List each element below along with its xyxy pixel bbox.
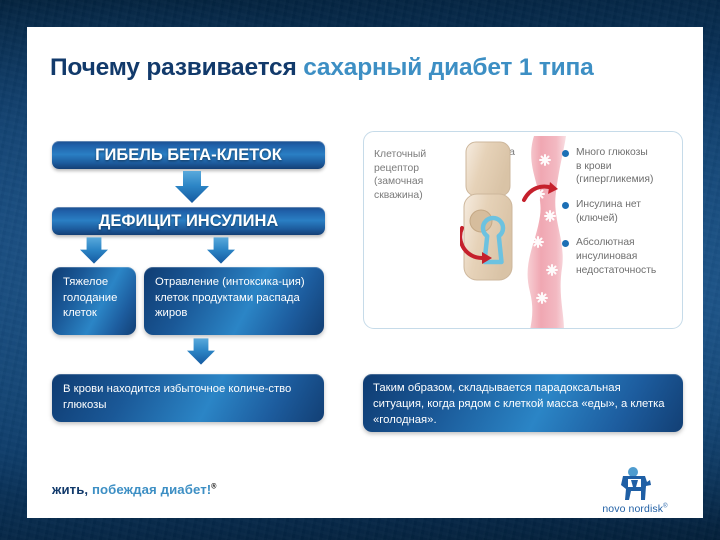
registered-mark: ® — [663, 504, 668, 510]
list-item: Абсолютная инсулиновая недостаточность — [562, 236, 680, 277]
arrow-down-icon — [175, 171, 209, 203]
paradox-summary-box: Таким образом, складывается парадоксальн… — [363, 374, 683, 432]
bullet-text: Много глюкозы в крови (гипергликемия) — [576, 146, 680, 187]
apis-bull-icon — [587, 467, 683, 505]
slide-card: Почему развивается сахарный диабет 1 тип… — [27, 27, 703, 518]
arrow-down-icon — [207, 237, 235, 264]
label-cell-receptor: Клеточный рецептор (замочная скважина) — [374, 148, 470, 203]
arrow-down-icon — [80, 237, 108, 264]
tagline-part-dark: жить, — [52, 482, 88, 497]
bullet-text: Абсолютная инсулиновая недостаточность — [576, 236, 680, 277]
illustration-bullet-list: Много глюкозы в крови (гипергликемия) Ин… — [562, 146, 680, 289]
tagline-part-light: побеждая диабет! — [88, 482, 211, 497]
flow-header-insulin-deficiency: ДЕФИЦИТ ИНСУЛИНА — [52, 207, 325, 235]
slide-background: Почему развивается сахарный диабет 1 тип… — [0, 0, 720, 540]
bullet-dot-icon — [562, 150, 569, 157]
arrow-down-icon — [187, 338, 215, 365]
registered-mark: ® — [211, 484, 216, 491]
illustration-panel: Клеточный рецептор (замочная скважина) К… — [363, 131, 683, 329]
novo-nordisk-logo: novo nordisk® — [587, 467, 683, 519]
flow-box-intoxication: Отравление (интоксика-ция) клеток продук… — [144, 267, 324, 335]
blood-vessel-icon — [528, 136, 566, 329]
flow-box-starvation: Тяжелое голодание клеток — [52, 267, 136, 335]
flow-box-excess-glucose: В крови находится избыточное количе-ство… — [52, 374, 324, 422]
flow-header-beta-cell-death: ГИБЕЛЬ БЕТА-КЛЕТОК — [52, 141, 325, 169]
cell-and-vessel-illustration — [460, 136, 570, 329]
list-item: Инсулина нет (ключей) — [562, 198, 680, 225]
bullet-dot-icon — [562, 202, 569, 209]
list-item: Много глюкозы в крови (гипергликемия) — [562, 146, 680, 187]
bullet-dot-icon — [562, 240, 569, 247]
flow-diagram: ГИБЕЛЬ БЕТА-КЛЕТОК ДЕФИЦИТ ИНСУЛИНА — [27, 27, 357, 518]
tagline: жить, побеждая диабет!® — [52, 482, 217, 497]
bullet-text: Инсулина нет (ключей) — [576, 198, 680, 225]
logo-wordmark-text: novo nordisk — [602, 503, 663, 515]
logo-wordmark: novo nordisk® — [587, 503, 683, 515]
